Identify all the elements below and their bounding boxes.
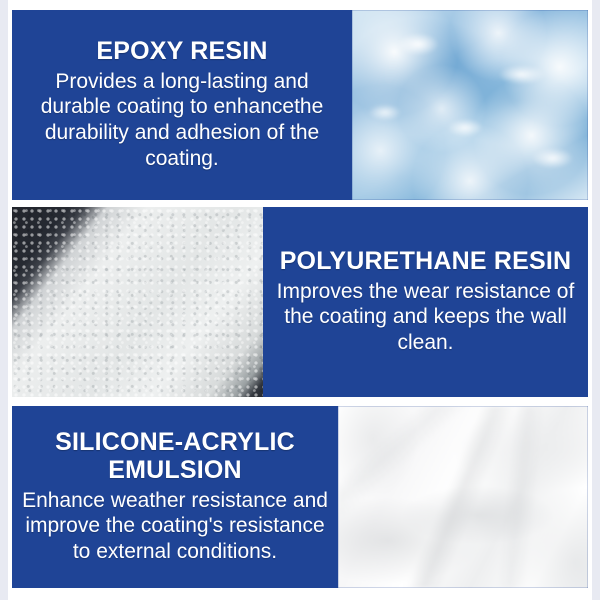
panel-polyurethane-text-block: POLYURETHANE RESIN Improves the wear res… [263, 207, 588, 397]
panel-polyurethane-title: POLYURETHANE RESIN [280, 247, 572, 275]
panel-silicone-photo [338, 406, 588, 588]
panel-silicone-text-block: SILICONE-ACRYLIC EMULSION Enhance weathe… [12, 406, 338, 588]
infographic-root: EPOXY RESIN Provides a long-lasting and … [0, 0, 600, 600]
white-cream-emulsion-photo [338, 406, 588, 588]
panel-epoxy-resin: EPOXY RESIN Provides a long-lasting and … [12, 10, 588, 200]
white-resin-granules-photo [12, 207, 263, 397]
panel-polyurethane-photo [12, 207, 263, 397]
panel-silicone-title: SILICONE-ACRYLIC EMULSION [30, 428, 320, 484]
panel-polyurethane-resin: POLYURETHANE RESIN Improves the wear res… [12, 207, 588, 397]
panel-silicone-acrylic-emulsion: SILICONE-ACRYLIC EMULSION Enhance weathe… [12, 406, 588, 588]
panel-epoxy-title: EPOXY RESIN [96, 37, 267, 65]
blue-glass-resin-beads-photo [352, 10, 588, 200]
panel-epoxy-text-block: EPOXY RESIN Provides a long-lasting and … [12, 10, 352, 200]
panel-epoxy-photo [352, 10, 588, 200]
panel-silicone-body: Enhance weather resistance and improve t… [22, 488, 328, 565]
panel-epoxy-body: Provides a long-lasting and durable coat… [22, 69, 342, 171]
panel-polyurethane-body: Improves the wear resistance of the coat… [273, 279, 578, 356]
